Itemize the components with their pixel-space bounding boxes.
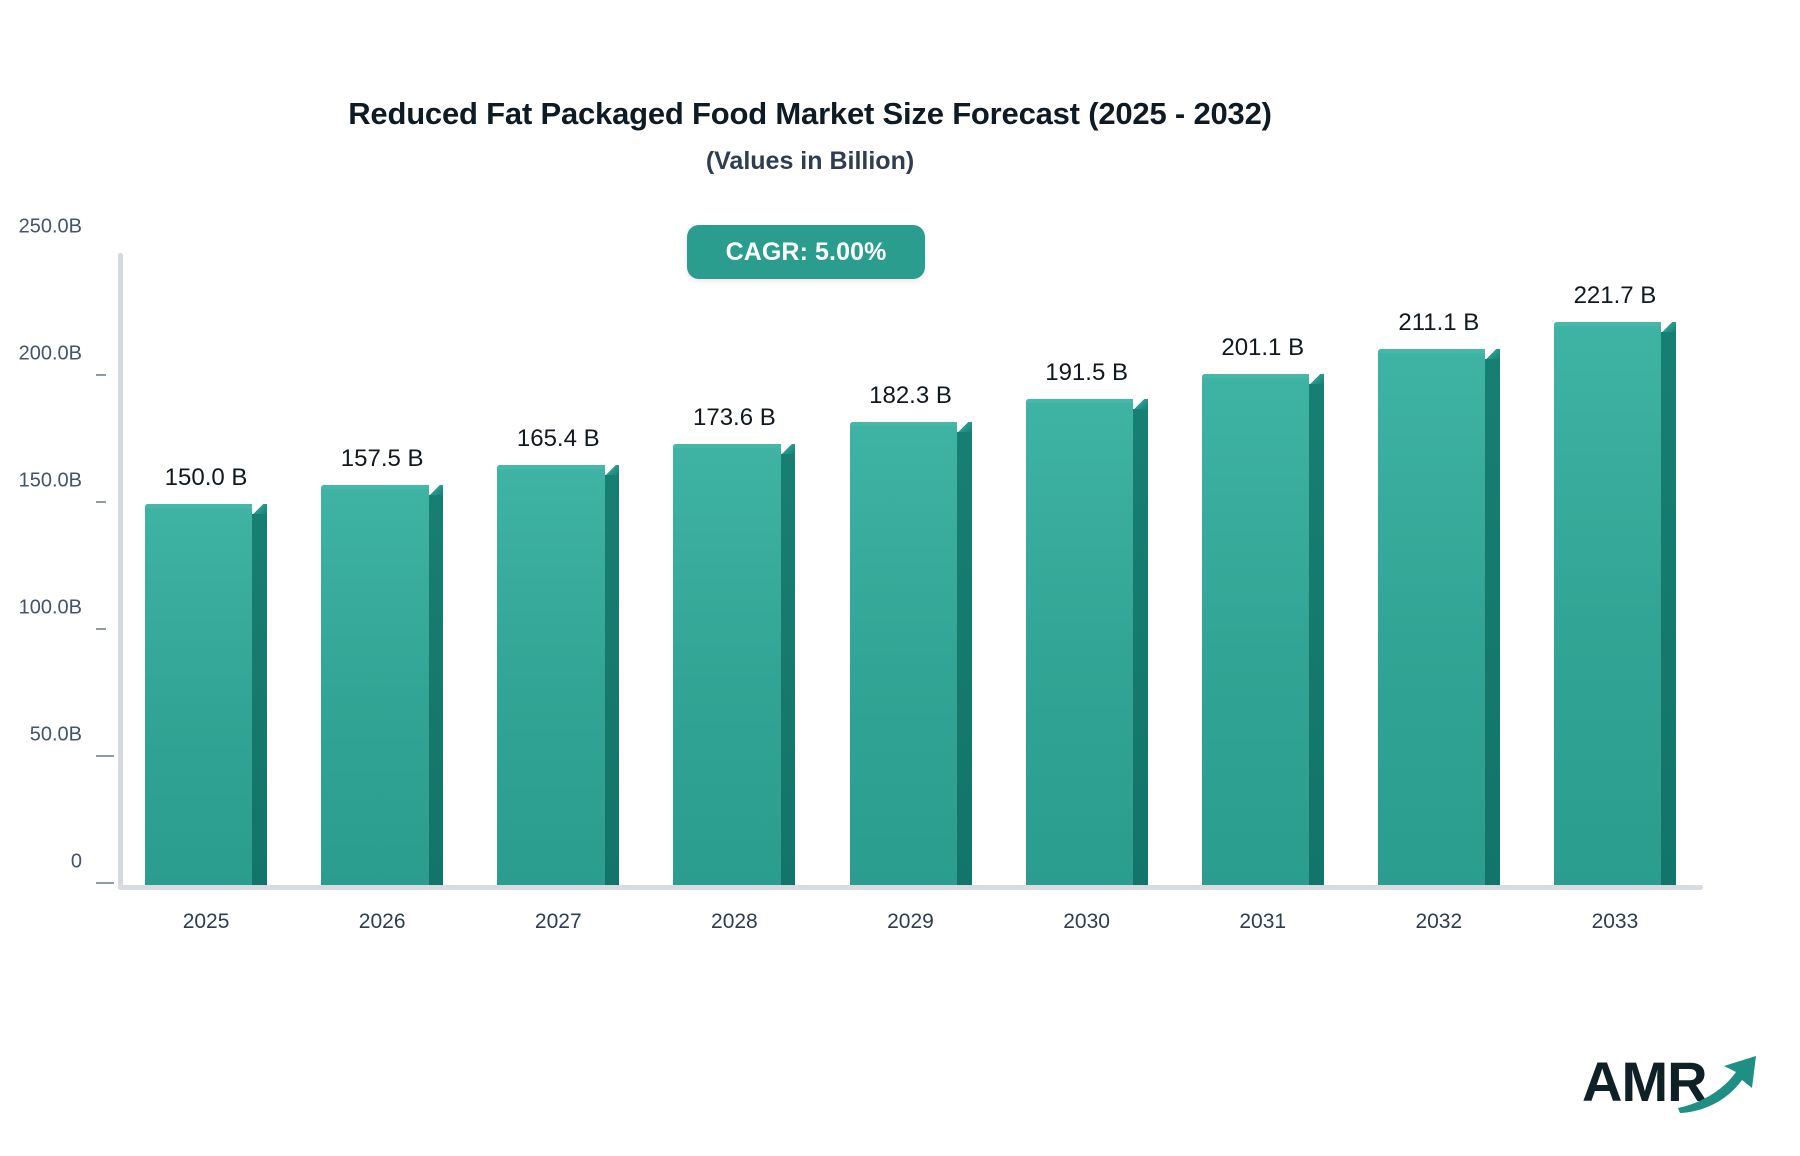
y-axis-tick-mark — [96, 501, 106, 503]
bar-side-face — [1485, 358, 1500, 885]
bar-bevel — [429, 485, 444, 495]
bar-bevel — [957, 422, 972, 432]
bar-column[interactable]: 211.1 B — [1378, 250, 1500, 885]
chart-container: Reduced Fat Packaged Food Market Size Fo… — [0, 0, 1800, 1156]
bar-top-face — [321, 485, 428, 489]
bar-value-label: 182.3 B — [850, 382, 972, 410]
y-axis-tick-label: 150.0B — [19, 470, 82, 493]
y-axis-tick-label: 50.0B — [30, 724, 82, 747]
x-axis-tick-label: 2027 — [470, 910, 646, 934]
y-axis-tick-label: 0 — [71, 851, 82, 874]
y-axis-tick-mark — [96, 374, 106, 376]
x-axis-tick-label: 2031 — [1175, 910, 1351, 934]
x-axis-tick-label: 2026 — [294, 910, 470, 934]
bar-front-face — [1026, 399, 1133, 885]
bar-side-face — [252, 513, 267, 885]
bar-side-face — [957, 431, 972, 885]
bar-front-face — [1378, 349, 1485, 885]
bar-bevel — [1309, 374, 1324, 384]
amr-logo: AMR — [1582, 1042, 1762, 1128]
bar-side-face — [781, 453, 796, 885]
y-axis-tick-mark — [96, 882, 114, 884]
y-axis-tick-mark — [96, 628, 106, 630]
bar[interactable]: 182.3 B — [850, 422, 972, 885]
bar-value-label: 191.5 B — [1026, 359, 1148, 387]
plot-area: 050.0B100.0B150.0B200.0B250.0B 150.0 B15… — [118, 250, 1703, 890]
bar-top-face — [1554, 322, 1661, 326]
x-axis-line — [118, 885, 1703, 890]
bar-column[interactable]: 221.7 B — [1554, 250, 1676, 885]
bar-value-label: 201.1 B — [1202, 334, 1324, 362]
y-axis-tick-label: 200.0B — [19, 343, 82, 366]
bar-column[interactable]: 157.5 B — [321, 250, 443, 885]
bar-top-face — [497, 465, 604, 469]
bar-top-face — [1202, 374, 1309, 378]
bar-front-face — [321, 485, 428, 885]
x-axis-tick-label: 2032 — [1351, 910, 1527, 934]
y-axis-tick-mark — [96, 755, 114, 757]
bar-side-face — [1661, 331, 1676, 885]
bar-top-face — [1378, 349, 1485, 353]
bar[interactable]: 221.7 B — [1554, 322, 1676, 885]
bar-front-face — [497, 465, 604, 885]
bar[interactable]: 173.6 B — [673, 444, 795, 885]
bar-side-face — [605, 474, 620, 885]
bar-value-label: 221.7 B — [1554, 282, 1676, 310]
bar-top-face — [145, 504, 252, 508]
bar-bevel — [1133, 399, 1148, 409]
chart-title: Reduced Fat Packaged Food Market Size Fo… — [0, 96, 1620, 132]
bar-bevel — [605, 465, 620, 475]
bar-side-face — [429, 494, 444, 885]
bar-front-face — [850, 422, 957, 885]
y-axis-tick-label: 100.0B — [19, 597, 82, 620]
chart-subtitle: (Values in Billion) — [0, 147, 1620, 176]
x-axis-tick-label: 2033 — [1527, 910, 1703, 934]
bar[interactable]: 165.4 B — [497, 465, 619, 885]
bar-series: 150.0 B157.5 B165.4 B173.6 B182.3 B191.5… — [118, 250, 1703, 885]
bar-bevel — [252, 504, 267, 514]
bar-front-face — [145, 504, 252, 885]
bar-bevel — [781, 444, 796, 454]
bar[interactable]: 211.1 B — [1378, 349, 1500, 885]
x-axis-tick-label: 2029 — [822, 910, 998, 934]
bar-top-face — [850, 422, 957, 426]
bar-column[interactable]: 201.1 B — [1202, 250, 1324, 885]
bar-side-face — [1133, 408, 1148, 885]
x-axis-tick-label: 2030 — [999, 910, 1175, 934]
x-axis-tick-label: 2028 — [646, 910, 822, 934]
bar-top-face — [1026, 399, 1133, 403]
bar-value-label: 150.0 B — [145, 464, 267, 492]
bar-column[interactable]: 173.6 B — [673, 250, 795, 885]
bar-column[interactable]: 150.0 B — [145, 250, 267, 885]
x-axis-tick-label: 2025 — [118, 910, 294, 934]
bar-value-label: 157.5 B — [321, 445, 443, 473]
growth-arrow-icon — [1676, 1052, 1762, 1114]
bar[interactable]: 150.0 B — [145, 504, 267, 885]
bar[interactable]: 191.5 B — [1026, 399, 1148, 885]
bar-column[interactable]: 165.4 B — [497, 250, 619, 885]
bar-column[interactable]: 182.3 B — [850, 250, 972, 885]
bar[interactable]: 157.5 B — [321, 485, 443, 885]
bar-value-label: 165.4 B — [497, 425, 619, 453]
bar-top-face — [673, 444, 780, 448]
bar-front-face — [1554, 322, 1661, 885]
bar-front-face — [1202, 374, 1309, 885]
bar-front-face — [673, 444, 780, 885]
bar-column[interactable]: 191.5 B — [1026, 250, 1148, 885]
bar-side-face — [1309, 383, 1324, 885]
y-axis-tick-label: 250.0B — [19, 216, 82, 239]
bar-bevel — [1485, 349, 1500, 359]
bar-value-label: 173.6 B — [673, 404, 795, 432]
bar[interactable]: 201.1 B — [1202, 374, 1324, 885]
bar-bevel — [1661, 322, 1676, 332]
bar-value-label: 211.1 B — [1378, 309, 1500, 337]
